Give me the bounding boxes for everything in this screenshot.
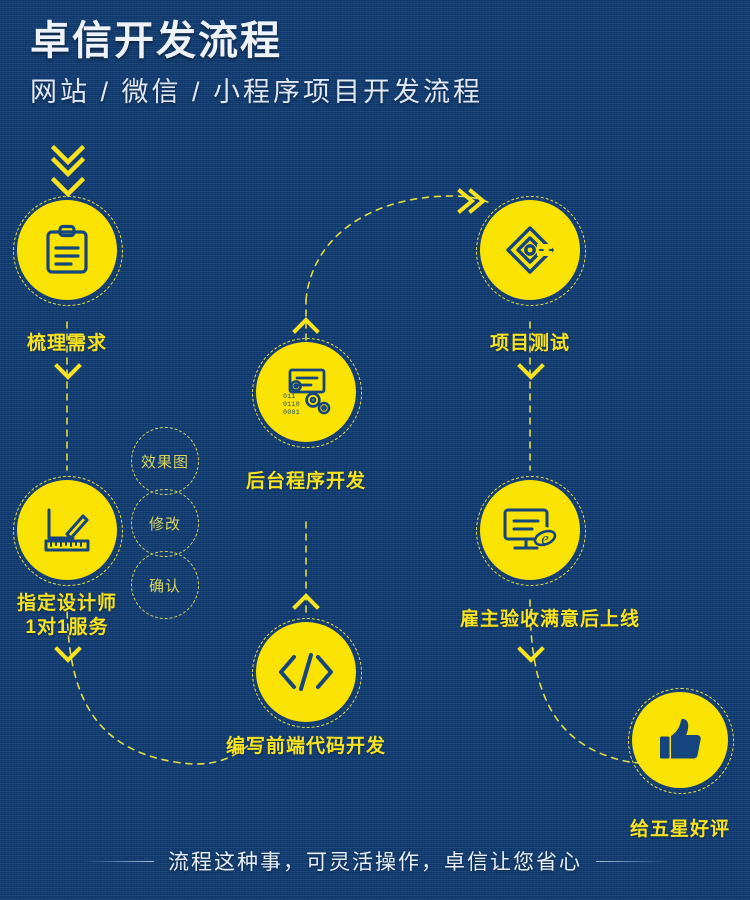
step3-label: 编写前端代码开发 (216, 735, 396, 759)
step6-disc[interactable]: e (480, 480, 580, 580)
arrow-step1-step2 (53, 362, 83, 384)
ie-browser-glyph: e (533, 527, 557, 549)
svg-text:0110: 0110 (283, 401, 300, 408)
arrow-step2-step3 (53, 645, 83, 667)
step6-label: 雇主验收满意后上线 (440, 608, 660, 632)
design-substep-2[interactable]: 修改 (131, 489, 199, 557)
step7-label: 给五星好评 (613, 818, 747, 842)
footer: 流程这种事，可灵活操作，卓信让您省心 (0, 846, 750, 876)
step2-label-line1: 指定设计师 (0, 592, 140, 616)
arrow-step4-step5 (291, 316, 321, 338)
step2-label-line2: 1对1服务 (0, 616, 140, 640)
svg-text:0001: 0001 (283, 409, 300, 416)
clipboard-icon (43, 224, 91, 276)
monitor-browser-icon: e (500, 505, 560, 555)
design-substep-2-label: 修改 (149, 513, 181, 534)
page-title: 卓信开发流程 (30, 18, 483, 64)
step7-disc[interactable] (632, 692, 728, 788)
svg-text:011: 011 (283, 393, 296, 400)
design-substep-3[interactable]: 确认 (131, 551, 199, 619)
step1-label: 梳理需求 (0, 332, 134, 356)
design-substep-1[interactable]: 效果图 (131, 427, 199, 495)
step1-disc[interactable] (17, 200, 117, 300)
step3-disc[interactable] (256, 622, 356, 722)
header: 卓信开发流程 网站 / 微信 / 小程序项目开发流程 (30, 18, 483, 108)
step5-disc[interactable] (480, 200, 580, 300)
diamond-target-icon (503, 223, 557, 277)
footer-tagline: 流程这种事，可灵活操作，卓信让您省心 (168, 846, 582, 876)
thumbs-up-icon (655, 715, 705, 765)
page-subtitle: 网站 / 微信 / 小程序项目开发流程 (30, 76, 483, 108)
footer-rule-left (82, 861, 154, 862)
step2-disc[interactable] (17, 480, 117, 580)
footer-rule-right (596, 861, 668, 862)
code-brackets-icon (275, 650, 337, 694)
arrow-step5-step6 (516, 362, 546, 384)
infographic-stage: 卓信开发流程 网站 / 微信 / 小程序项目开发流程 (0, 0, 750, 900)
arrow-step6-step7 (516, 645, 546, 667)
step5-label: 项目测试 (463, 332, 597, 356)
ruler-pencil-icon (39, 504, 95, 556)
svg-text:e: e (541, 529, 549, 548)
step4-disc[interactable]: 011 0110 0001 (256, 342, 356, 442)
arrow-head-to-step5 (455, 186, 491, 216)
arrow-step3-step4 (291, 592, 321, 614)
design-substep-1-label: 效果图 (141, 451, 189, 472)
gears-code-icon: 011 0110 0001 (278, 364, 334, 420)
design-substep-3-label: 确认 (149, 575, 181, 596)
step4-label: 后台程序开发 (226, 470, 386, 494)
